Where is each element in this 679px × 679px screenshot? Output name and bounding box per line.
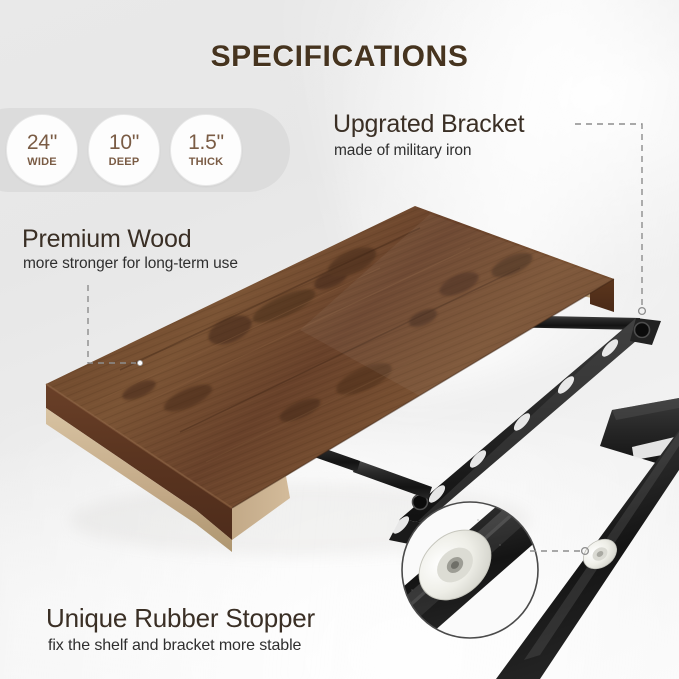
badge-thickness-value: 1.5" bbox=[188, 132, 224, 153]
callout-bracket-subtitle: made of military iron bbox=[334, 142, 471, 160]
callout-wood-title: Premium Wood bbox=[22, 225, 191, 254]
callout-bracket-title: Upgrated Bracket bbox=[333, 110, 524, 139]
badge-depth-value: 10" bbox=[109, 132, 139, 153]
callout-wood-subtitle: more stronger for long-term use bbox=[23, 255, 238, 273]
callout-stopper-title: Unique Rubber Stopper bbox=[46, 603, 315, 634]
badge-width-label: WIDE bbox=[27, 157, 57, 168]
specifications-infographic: SPECIFICATIONS 24" WIDE 10" DEEP 1.5" TH… bbox=[0, 0, 679, 679]
badge-width-value: 24" bbox=[27, 132, 57, 153]
callout-stopper-subtitle: fix the shelf and bracket more stable bbox=[48, 637, 301, 655]
product-illustration bbox=[0, 0, 679, 679]
badge-thickness-label: THICK bbox=[189, 157, 224, 168]
badge-depth: 10" DEEP bbox=[88, 114, 160, 186]
page-title: SPECIFICATIONS bbox=[0, 40, 679, 74]
dimension-badges: 24" WIDE 10" DEEP 1.5" THICK bbox=[0, 108, 290, 192]
badge-depth-label: DEEP bbox=[109, 157, 140, 168]
badge-thickness: 1.5" THICK bbox=[170, 114, 242, 186]
leader-line-stopper bbox=[530, 548, 588, 555]
badge-width: 24" WIDE bbox=[6, 114, 78, 186]
